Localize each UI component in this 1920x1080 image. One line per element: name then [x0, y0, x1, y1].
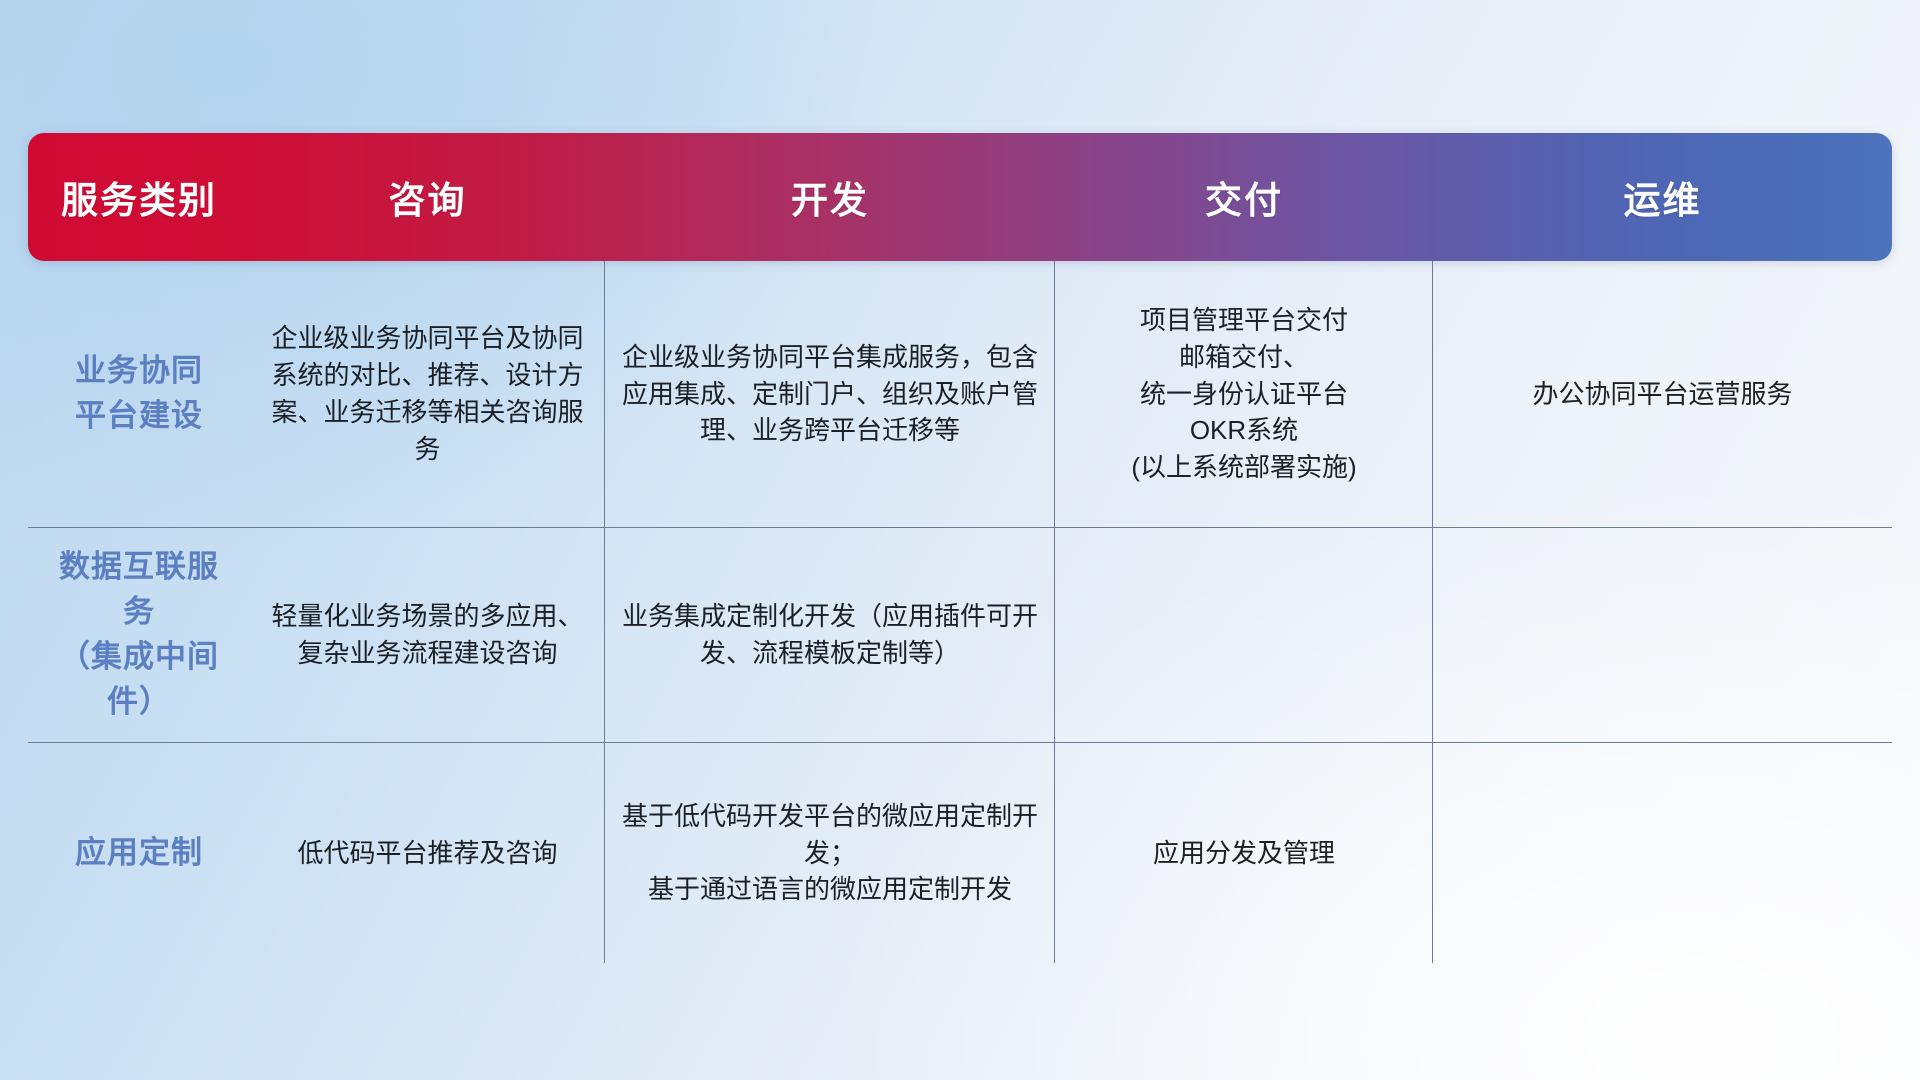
table-header-cell-consulting: 咨询 — [250, 133, 605, 261]
table-header-cell-category: 服务类别 — [28, 133, 250, 261]
table-header-cell-delivery: 交付 — [1055, 133, 1433, 261]
table-row: 业务协同 平台建设 企业级业务协同平台及协同系统的对比、推荐、设计方案、业务迁移… — [28, 261, 1892, 527]
row-category-label: 应用定制 — [28, 743, 250, 963]
cell-delivery: 应用分发及管理 — [1055, 743, 1433, 963]
table-row: 应用定制 低代码平台推荐及咨询 基于低代码开发平台的微应用定制开发； 基于通过语… — [28, 742, 1892, 963]
row-category-label: 数据互联服务 （集成中间件） — [28, 528, 250, 742]
slide-canvas: 服务类别 咨询 开发 交付 运维 业务协同 平台建设 企业级业务协同平台及协同系… — [0, 0, 1920, 1080]
cell-operations — [1433, 528, 1892, 742]
cell-delivery: 项目管理平台交付 邮箱交付、 统一身份认证平台 OKR系统 (以上系统部署实施) — [1055, 261, 1433, 527]
cell-delivery — [1055, 528, 1433, 742]
table-row: 数据互联服务 （集成中间件） 轻量化业务场景的多应用、复杂业务流程建设咨询 业务… — [28, 527, 1892, 742]
table-body: 业务协同 平台建设 企业级业务协同平台及协同系统的对比、推荐、设计方案、业务迁移… — [28, 261, 1892, 963]
row-category-label: 业务协同 平台建设 — [28, 261, 250, 527]
cell-operations: 办公协同平台运营服务 — [1433, 261, 1892, 527]
table-header-row: 服务类别 咨询 开发 交付 运维 — [28, 133, 1892, 261]
cell-development: 业务集成定制化开发（应用插件可开发、流程模板定制等） — [605, 528, 1055, 742]
table-header-cell-operations: 运维 — [1433, 133, 1892, 261]
cell-development: 企业级业务协同平台集成服务，包含应用集成、定制门户、组织及账户管理、业务跨平台迁… — [605, 261, 1055, 527]
cell-development: 基于低代码开发平台的微应用定制开发； 基于通过语言的微应用定制开发 — [605, 743, 1055, 963]
service-matrix-table: 服务类别 咨询 开发 交付 运维 业务协同 平台建设 企业级业务协同平台及协同系… — [28, 133, 1892, 963]
table-header-cell-development: 开发 — [605, 133, 1055, 261]
cell-consulting: 低代码平台推荐及咨询 — [250, 743, 605, 963]
cell-operations — [1433, 743, 1892, 963]
cell-consulting: 轻量化业务场景的多应用、复杂业务流程建设咨询 — [250, 528, 605, 742]
cell-consulting: 企业级业务协同平台及协同系统的对比、推荐、设计方案、业务迁移等相关咨询服务 — [250, 261, 605, 527]
